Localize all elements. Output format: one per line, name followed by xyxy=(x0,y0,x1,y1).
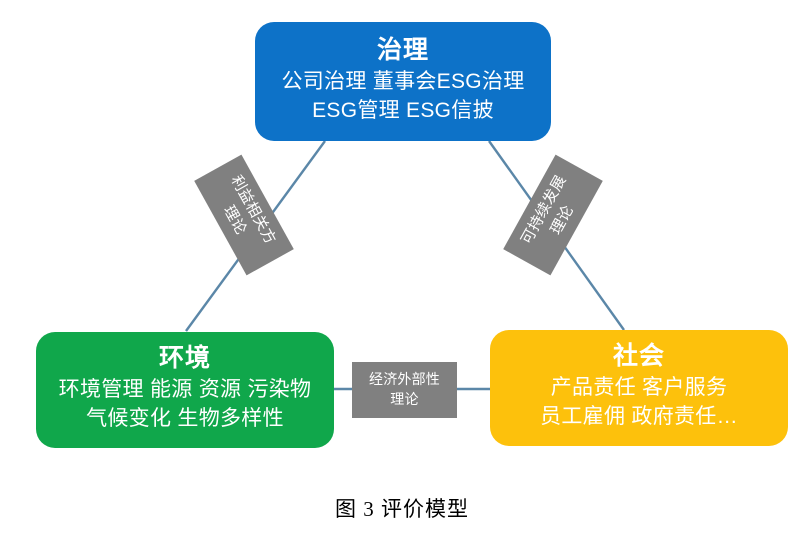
pillar-title-governance: 治理 xyxy=(377,34,429,66)
theory-label-economic-externality-line-1: 经济外部性 xyxy=(369,370,440,390)
esg-evaluation-model-figure: 治理 公司治理 董事会ESG治理 ESG管理 ESG信披 环境 环境管理 能源 … xyxy=(0,0,804,544)
pillar-box-governance[interactable]: 治理 公司治理 董事会ESG治理 ESG管理 ESG信披 xyxy=(255,22,551,141)
pillar-title-environment: 环境 xyxy=(159,342,211,374)
pillar-detail-society-1: 产品责任 客户服务 xyxy=(551,374,728,403)
figure-caption: 图 3 评价模型 xyxy=(0,493,804,523)
theory-label-stakeholder[interactable]: 利益相关方 理论 xyxy=(194,155,294,276)
theory-label-economic-externality-line-2: 理论 xyxy=(390,390,418,410)
pillar-detail-governance-1: 公司治理 董事会ESG治理 xyxy=(281,68,524,97)
pillar-detail-environment-1: 环境管理 能源 资源 污染物 xyxy=(59,376,312,405)
pillar-box-environment[interactable]: 环境 环境管理 能源 资源 污染物 气候变化 生物多样性 xyxy=(36,332,334,448)
pillar-box-society[interactable]: 社会 产品责任 客户服务 员工雇佣 政府责任… xyxy=(490,330,788,446)
pillar-detail-society-2: 员工雇佣 政府责任… xyxy=(540,403,738,432)
pillar-title-society: 社会 xyxy=(613,340,665,372)
pillar-detail-environment-2: 气候变化 生物多样性 xyxy=(86,405,284,434)
theory-label-sustainable-development[interactable]: 可持续发展 理论 xyxy=(503,155,603,276)
pillar-detail-governance-2: ESG管理 ESG信披 xyxy=(312,97,494,126)
theory-label-economic-externality[interactable]: 经济外部性 理论 xyxy=(352,362,457,418)
